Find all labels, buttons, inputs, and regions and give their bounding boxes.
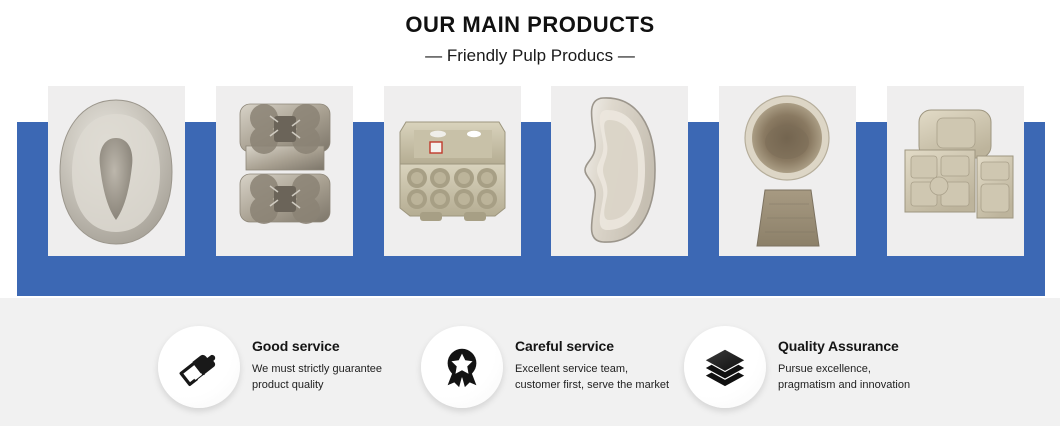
- page-title: OUR MAIN PRODUCTS: [0, 0, 1060, 38]
- molded-pulp-bedpan-icon: [48, 86, 185, 256]
- molded-pulp-egg-carton-icon: [384, 86, 521, 256]
- product-card[interactable]: Molded pulp bedpan: [48, 86, 185, 256]
- handshake-icon: [158, 326, 240, 408]
- molded-pulp-cup-carrier-icon: [216, 86, 353, 256]
- feature-item: Quality Assurance Pursue excellence, pra…: [684, 326, 947, 412]
- award-medal-icon: [421, 326, 503, 408]
- header: OUR MAIN PRODUCTS — Friendly Pulp Produc…: [0, 0, 1060, 84]
- molded-pulp-kidney-dish-icon: [551, 86, 688, 256]
- feature-title: Careful service: [515, 338, 669, 354]
- features-section: Good service We must strictly guarantee …: [0, 298, 1060, 426]
- feature-item: Good service We must strictly guarantee …: [158, 326, 421, 412]
- feature-description: Pursue excellence, pragmatism and innova…: [778, 354, 910, 393]
- feature-text: Quality Assurance Pursue excellence, pra…: [766, 326, 910, 393]
- product-gallery: Molded pulp bedpan: [48, 86, 1024, 256]
- feature-text: Careful service Excellent service team, …: [503, 326, 669, 393]
- product-card[interactable]: Molded pulp kidney shaped emesis dish: [551, 86, 688, 256]
- feature-description: Excellent service team, customer first, …: [515, 354, 669, 393]
- product-card[interactable]: Molded pulp drinking cup: [719, 86, 856, 256]
- product-card[interactable]: Molded pulp 4-cup drink carrier: [216, 86, 353, 256]
- feature-description: We must strictly guarantee product quali…: [252, 354, 382, 393]
- feature-title: Quality Assurance: [778, 338, 910, 354]
- features-row: Good service We must strictly guarantee …: [158, 326, 948, 412]
- product-card[interactable]: Molded pulp 10-cell egg carton: [384, 86, 521, 256]
- feature-item: Careful service Excellent service team, …: [421, 326, 684, 412]
- molded-pulp-cup-icon: [719, 86, 856, 256]
- molded-pulp-food-trays-icon: [887, 86, 1024, 256]
- product-card[interactable]: Molded pulp compartment food trays: [887, 86, 1024, 256]
- feature-title: Good service: [252, 338, 382, 354]
- page-subtitle: — Friendly Pulp Producs —: [0, 38, 1060, 66]
- promo-banner: OUR MAIN PRODUCTS — Friendly Pulp Produc…: [0, 0, 1060, 426]
- layers-stack-icon: [684, 326, 766, 408]
- feature-text: Good service We must strictly guarantee …: [240, 326, 382, 393]
